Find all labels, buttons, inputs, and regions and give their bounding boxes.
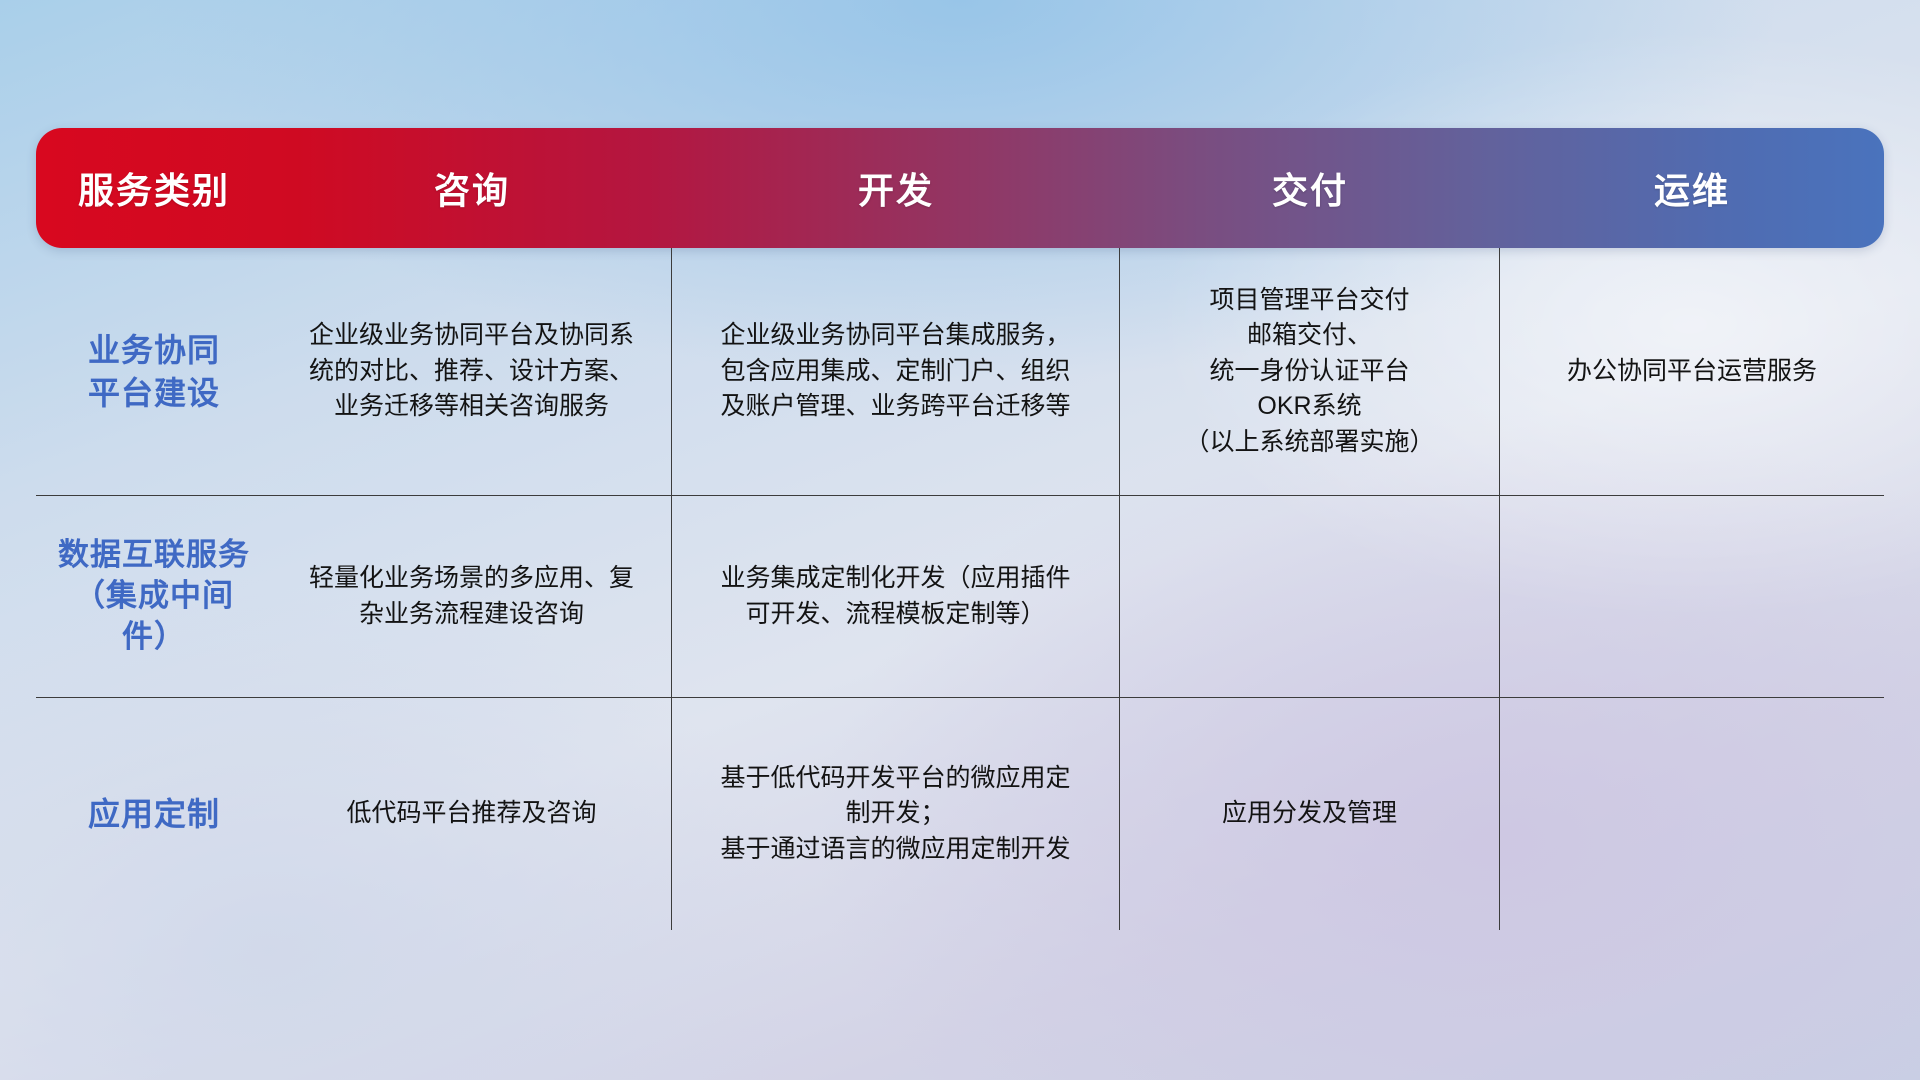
- cell-development: 基于低代码开发平台的微应用定 制开发； 基于通过语言的微应用定制开发: [672, 698, 1120, 930]
- cell-operations: [1500, 496, 1884, 698]
- table-row: 应用定制 低代码平台推荐及咨询 基于低代码开发平台的微应用定 制开发； 基于通过…: [36, 698, 1884, 930]
- cell-operations: [1500, 698, 1884, 930]
- table-row: 业务协同 平台建设 企业级业务协同平台及协同系 统的对比、推荐、设计方案、 业务…: [36, 248, 1884, 496]
- cell-delivery: 项目管理平台交付 邮箱交付、 统一身份认证平台 OKR系统 （以上系统部署实施）: [1120, 248, 1500, 496]
- column-header-delivery: 交付: [1120, 128, 1500, 248]
- column-header-operations: 运维: [1500, 128, 1884, 248]
- table-body: 业务协同 平台建设 企业级业务协同平台及协同系 统的对比、推荐、设计方案、 业务…: [36, 248, 1884, 930]
- row-category-label: 数据互联服务 （集成中间件）: [36, 496, 272, 698]
- table-header-row: 服务类别 咨询 开发 交付 运维: [36, 128, 1884, 248]
- column-header-consulting: 咨询: [272, 128, 672, 248]
- cell-delivery: 应用分发及管理: [1120, 698, 1500, 930]
- cell-consulting: 低代码平台推荐及咨询: [272, 698, 672, 930]
- row-category-label: 应用定制: [36, 698, 272, 930]
- cell-delivery: [1120, 496, 1500, 698]
- column-header-development: 开发: [672, 128, 1120, 248]
- cell-consulting: 企业级业务协同平台及协同系 统的对比、推荐、设计方案、 业务迁移等相关咨询服务: [272, 248, 672, 496]
- cell-operations: 办公协同平台运营服务: [1500, 248, 1884, 496]
- row-category-label: 业务协同 平台建设: [36, 248, 272, 496]
- column-header-service-category: 服务类别: [36, 128, 272, 248]
- table-row: 数据互联服务 （集成中间件） 轻量化业务场景的多应用、复 杂业务流程建设咨询 业…: [36, 496, 1884, 698]
- service-matrix-table: 服务类别 咨询 开发 交付 运维 业务协同 平台建设 企业级业务协同平台及协同系…: [36, 128, 1884, 930]
- cell-development: 企业级业务协同平台集成服务， 包含应用集成、定制门户、组织 及账户管理、业务跨平…: [672, 248, 1120, 496]
- cell-consulting: 轻量化业务场景的多应用、复 杂业务流程建设咨询: [272, 496, 672, 698]
- cell-development: 业务集成定制化开发（应用插件 可开发、流程模板定制等）: [672, 496, 1120, 698]
